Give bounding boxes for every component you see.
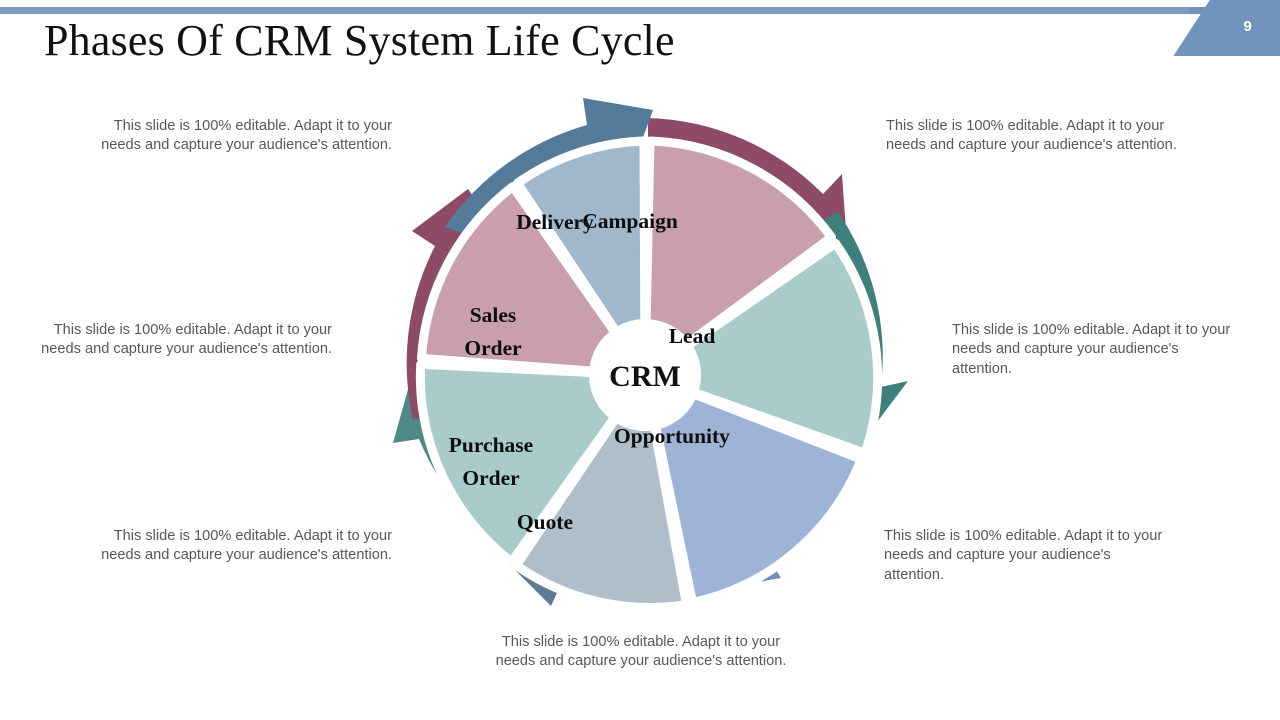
page-title: Phases Of CRM System Life Cycle xyxy=(44,14,675,68)
segment-label-campaign: Campaign xyxy=(582,209,678,233)
header-accent-bar-inner xyxy=(0,7,1190,14)
page-number-label: 9 xyxy=(1243,18,1252,35)
caption-opportunity: This slide is 100% editable. Adapt it to… xyxy=(952,321,1242,379)
caption-sales-order: This slide is 100% editable. Adapt it to… xyxy=(30,321,332,360)
wheel-svg: CRM Campaign Lead Opportunity Quote Purc… xyxy=(395,90,895,660)
header-accent-bar xyxy=(0,7,1280,14)
segment-label-quote: Quote xyxy=(517,510,573,534)
segment-label-purchase-order-line2: Order xyxy=(462,466,520,490)
wheel-hub-label: CRM xyxy=(609,360,681,393)
segment-label-sales-order-line2: Order xyxy=(464,336,522,360)
segment-label-lead: Lead xyxy=(669,324,716,348)
caption-lead: This slide is 100% editable. Adapt it to… xyxy=(886,117,1186,156)
caption-purchase-order: This slide is 100% editable. Adapt it to… xyxy=(90,527,392,566)
crm-lifecycle-wheel: CRM Campaign Lead Opportunity Quote Purc… xyxy=(395,90,895,660)
caption-bottom: This slide is 100% editable. Adapt it to… xyxy=(482,633,800,672)
segment-label-sales-order-line1: Sales xyxy=(470,303,517,327)
segment-label-opportunity: Opportunity xyxy=(614,424,730,448)
slide-canvas: 9 Phases Of CRM System Life Cycle xyxy=(0,0,1280,720)
segment-label-delivery: Delivery xyxy=(516,210,594,234)
segment-label-purchase-order-line1: Purchase xyxy=(449,433,533,457)
caption-campaign: This slide is 100% editable. Adapt it to… xyxy=(90,117,392,156)
caption-quote: This slide is 100% editable. Adapt it to… xyxy=(884,527,1174,585)
